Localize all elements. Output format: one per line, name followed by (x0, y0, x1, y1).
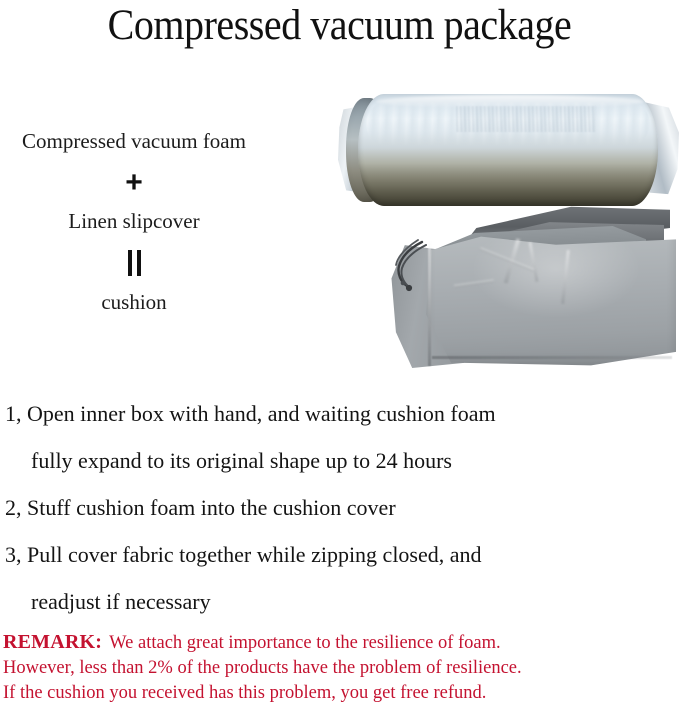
vacuum-foam-roll-image (336, 88, 679, 210)
fabric-front-panel (426, 234, 676, 368)
remark-line-3: If the cushion you received has this pro… (3, 681, 675, 706)
equation-result-cushion: cushion (0, 289, 268, 315)
page-title: Compressed vacuum package (24, 2, 655, 50)
roll-top-highlight (376, 95, 644, 108)
instruction-card: Compressed vacuum package Compressed vac… (0, 0, 679, 717)
remark-line-1: REMARK:We attach great importance to the… (3, 630, 675, 656)
instruction-text-1-cont: fully expand to its original shape up to… (5, 437, 665, 484)
product-equation: Compressed vacuum foam + Linen slipcover… (0, 128, 268, 315)
instruction-number-3: 3, (5, 542, 22, 567)
fabric-hem-line (432, 356, 672, 359)
equation-term-slipcover: Linen slipcover (0, 208, 268, 234)
zipper-cord-icon (392, 238, 438, 296)
instruction-item-1: 1, Open inner box with hand, and waiting… (5, 390, 665, 484)
instruction-text-3-cont: readjust if necessary (5, 578, 665, 625)
remark-line-2: However, less than 2% of the products ha… (3, 656, 675, 681)
remark-label: REMARK: (3, 631, 102, 653)
instruction-text-1: Open inner box with hand, and waiting cu… (27, 401, 496, 426)
instruction-text-2: Stuff cushion foam into the cushion cove… (27, 495, 396, 520)
instruction-text-3: Pull cover fabric together while zipping… (27, 542, 482, 567)
instruction-number-1: 1, (5, 401, 22, 426)
equals-bar-right (137, 250, 141, 276)
remark-text-1: We attach great importance to the resili… (109, 633, 500, 653)
equation-term-foam: Compressed vacuum foam (0, 128, 268, 154)
instruction-number-2: 2, (5, 495, 22, 520)
product-photo-group (336, 88, 679, 378)
instruction-item-3: 3, Pull cover fabric together while zipp… (5, 531, 665, 625)
remark-block: REMARK:We attach great importance to the… (3, 630, 675, 706)
instruction-item-2: 2, Stuff cushion foam into the cushion c… (5, 484, 665, 531)
plastic-wrinkle-highlights-secondary (456, 106, 596, 132)
instruction-list: 1, Open inner box with hand, and waiting… (5, 390, 665, 625)
plus-sign-icon: + (0, 166, 268, 200)
equals-sign-icon (0, 248, 268, 278)
equals-bar-left (128, 250, 132, 276)
slipcover-fabric-image (382, 206, 679, 378)
